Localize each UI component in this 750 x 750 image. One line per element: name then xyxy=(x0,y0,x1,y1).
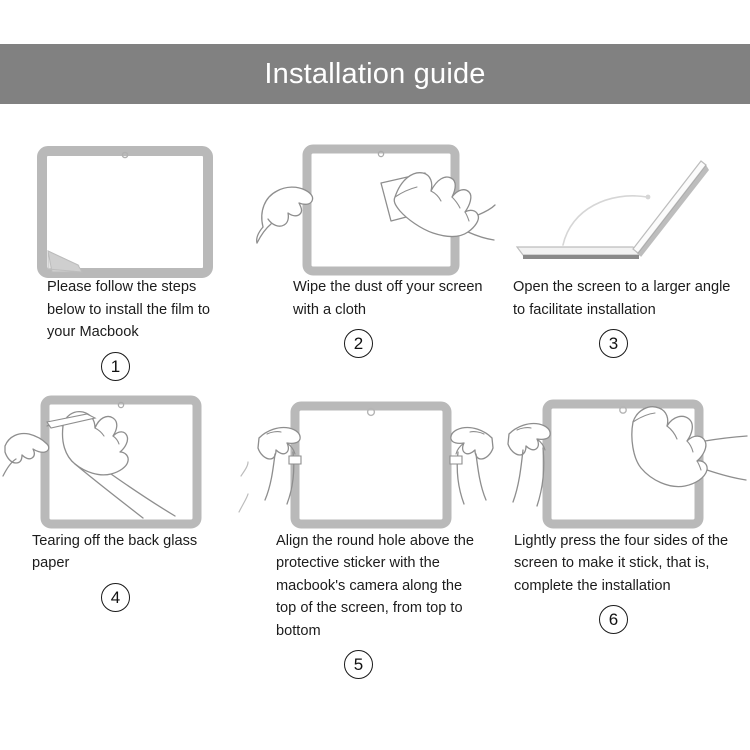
step-number-badge-3: 3 xyxy=(599,329,628,358)
step-3-badge-row: 3 xyxy=(500,321,750,365)
step-5-illustration xyxy=(250,390,500,530)
step-5-caption: Align the round hole above the protectiv… xyxy=(250,530,500,643)
step-2-caption: Wipe the dust off your screen with a clo… xyxy=(250,276,500,321)
step-3-caption: Open the screen to a larger angle to fac… xyxy=(500,276,750,321)
step-number-badge-5: 5 xyxy=(344,650,373,679)
step-6-badge-row: 6 xyxy=(500,597,750,641)
step-1-caption: Please follow the steps below to install… xyxy=(0,276,250,344)
step-number-badge-4: 4 xyxy=(101,583,130,612)
step-cell-3: Open the screen to a larger angle to fac… xyxy=(500,136,750,390)
hands-peeling-back-paper-icon xyxy=(3,392,248,527)
laptop-side-view-opening-angle-icon xyxy=(505,139,745,274)
step-number-badge-2: 2 xyxy=(344,329,373,358)
hands-wiping-screen-with-cloth-icon xyxy=(255,139,495,274)
step-cell-2: Wipe the dust off your screen with a clo… xyxy=(250,136,500,390)
step-5-badge-row: 5 xyxy=(250,642,500,686)
step-3-illustration xyxy=(500,136,750,276)
step-2-badge-row: 2 xyxy=(250,321,500,365)
step-2-illustration xyxy=(250,136,500,276)
step-6-illustration xyxy=(500,390,750,530)
step-4-illustration xyxy=(0,390,250,530)
step-1-illustration xyxy=(0,136,250,276)
step-number-badge-6: 6 xyxy=(599,605,628,634)
step-4-caption: Tearing off the back glass paper xyxy=(0,530,250,575)
hand-pressing-screen-edges-icon xyxy=(503,392,748,527)
step-number-badge-1: 1 xyxy=(101,352,130,381)
step-4-badge-row: 4 xyxy=(0,575,250,619)
page-title: Installation guide xyxy=(264,60,485,89)
step-6-caption: Lightly press the four sides of the scre… xyxy=(500,530,750,598)
installation-steps-grid: Please follow the steps below to install… xyxy=(0,136,750,686)
step-1-badge-row: 1 xyxy=(0,344,250,390)
step-cell-1: Please follow the steps below to install… xyxy=(0,136,250,390)
step-cell-5: Align the round hole above the protectiv… xyxy=(250,390,500,687)
header-banner: Installation guide xyxy=(0,44,750,104)
screen-with-peeling-film-corner-icon xyxy=(30,139,220,274)
two-hands-aligning-film-icon xyxy=(253,392,498,527)
step-cell-4: Tearing off the back glass paper 4 xyxy=(0,390,250,687)
step-cell-6: Lightly press the four sides of the scre… xyxy=(500,390,750,687)
